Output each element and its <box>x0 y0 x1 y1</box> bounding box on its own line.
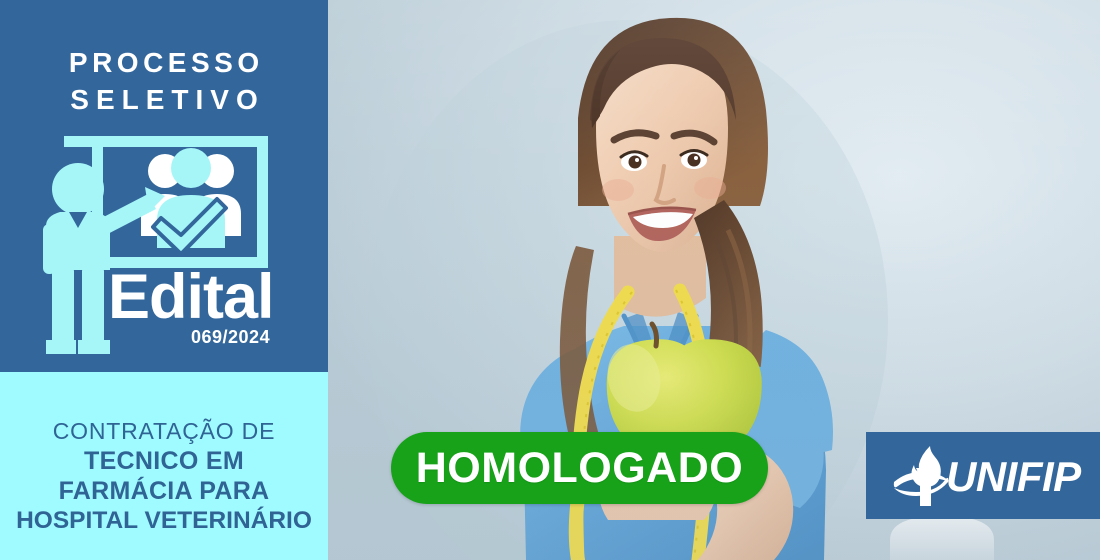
contract-line-2: TECNICO EM <box>0 446 328 476</box>
contract-line-3: FARMÁCIA PARA <box>0 476 328 506</box>
edital-presentation-icon: Edital 069/2024 <box>28 128 313 363</box>
contract-line-1: CONTRATAÇÃO DE <box>0 418 328 446</box>
contract-line-4: HOSPITAL VETERINÁRIO <box>0 506 328 535</box>
left-info-panel: PROCESSO SELETIVO <box>0 0 328 560</box>
edital-announcement-banner: PROCESSO SELETIVO <box>0 0 1100 560</box>
page-title-line-1: PROCESSO <box>0 44 328 81</box>
page-title: PROCESSO SELETIVO <box>0 44 328 118</box>
page-title-line-2: SELETIVO <box>0 81 328 118</box>
unifip-wordmark: UNIFIP <box>946 456 1081 498</box>
edital-icon-word: Edital <box>108 262 274 332</box>
unifip-logo: UNIFIP <box>866 432 1100 519</box>
contract-description: CONTRATAÇÃO DE TECNICO EM FARMÁCIA PARA … <box>0 418 328 535</box>
edital-number: 069/2024 <box>191 327 270 347</box>
status-badge: HOMOLOGADO <box>391 432 768 504</box>
status-badge-label: HOMOLOGADO <box>416 447 743 490</box>
